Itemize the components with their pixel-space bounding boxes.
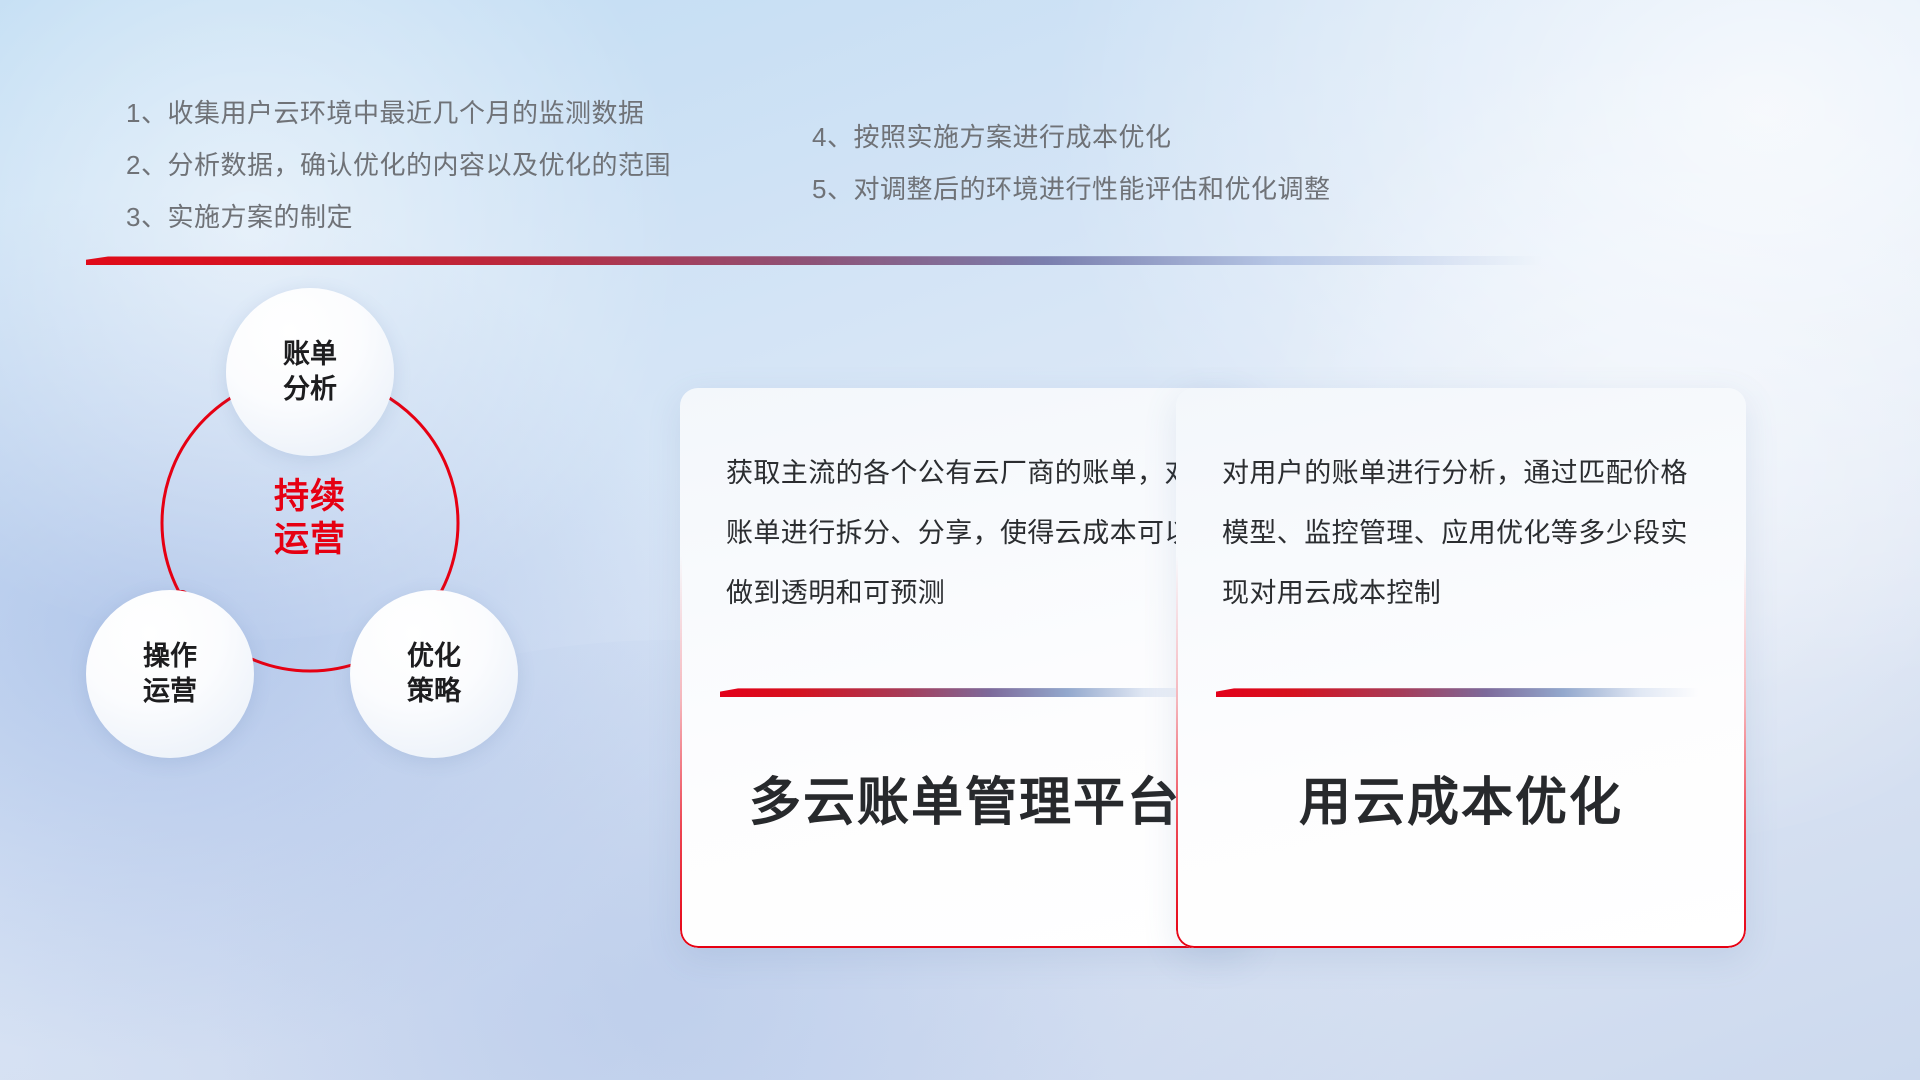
steps-list-right: 4、按照实施方案进行成本优化 5、对调整后的环境进行性能评估和优化调整 (812, 124, 1330, 202)
step-item-1: 1、收集用户云环境中最近几个月的监测数据 (126, 100, 671, 126)
node-label-line1: 操作 (143, 639, 197, 674)
step-item-4: 4、按照实施方案进行成本优化 (812, 124, 1330, 150)
card-divider-bar (1216, 688, 1698, 697)
top-divider-rule (86, 256, 1542, 265)
node-label-line2: 运营 (143, 674, 197, 709)
diagram-node-operations[interactable]: 操作 运营 (86, 590, 254, 758)
feature-card-multicloud-billing[interactable]: 获取主流的各个公有云厂商的账单，对账单进行拆分、分享，使得云成本可以做到透明和可… (680, 388, 1250, 948)
step-item-2: 2、分析数据，确认优化的内容以及优化的范围 (126, 152, 671, 178)
card-body-text: 获取主流的各个公有云厂商的账单，对账单进行拆分、分享，使得云成本可以做到透明和可… (726, 444, 1216, 624)
feature-card-cost-optimization[interactable]: 对用户的账单进行分析，通过匹配价格模型、监控管理、应用优化等多少段实现对用云成本… (1176, 388, 1746, 948)
card-divider-bar (720, 688, 1202, 697)
diagram-node-optimization-strategy[interactable]: 优化 策略 (350, 590, 518, 758)
node-label-line2: 分析 (283, 372, 337, 407)
top-divider-bar (86, 256, 1542, 265)
node-label-line2: 策略 (407, 674, 461, 709)
slide-root: 1、收集用户云环境中最近几个月的监测数据 2、分析数据，确认优化的内容以及优化的… (0, 0, 1920, 1080)
card-title: 多云账单管理平台 (680, 760, 1250, 835)
cycle-diagram: 账单 分析 操作 运营 优化 策略 持续 运营 (78, 288, 598, 788)
card-divider-rule (1216, 688, 1698, 697)
card-title: 用云成本优化 (1176, 760, 1746, 835)
card-divider-rule (720, 688, 1202, 697)
center-label-line2: 运营 (226, 519, 394, 562)
diagram-node-bill-analysis[interactable]: 账单 分析 (226, 288, 394, 456)
center-label-line1: 持续 (226, 476, 394, 519)
diagram-center-label: 持续 运营 (226, 476, 394, 561)
node-label-line1: 账单 (283, 337, 337, 372)
node-label-line1: 优化 (407, 639, 461, 674)
step-item-5: 5、对调整后的环境进行性能评估和优化调整 (812, 176, 1330, 202)
step-item-3: 3、实施方案的制定 (126, 204, 671, 230)
steps-list-left: 1、收集用户云环境中最近几个月的监测数据 2、分析数据，确认优化的内容以及优化的… (126, 100, 671, 230)
card-body-text: 对用户的账单进行分析，通过匹配价格模型、监控管理、应用优化等多少段实现对用云成本… (1222, 444, 1712, 624)
